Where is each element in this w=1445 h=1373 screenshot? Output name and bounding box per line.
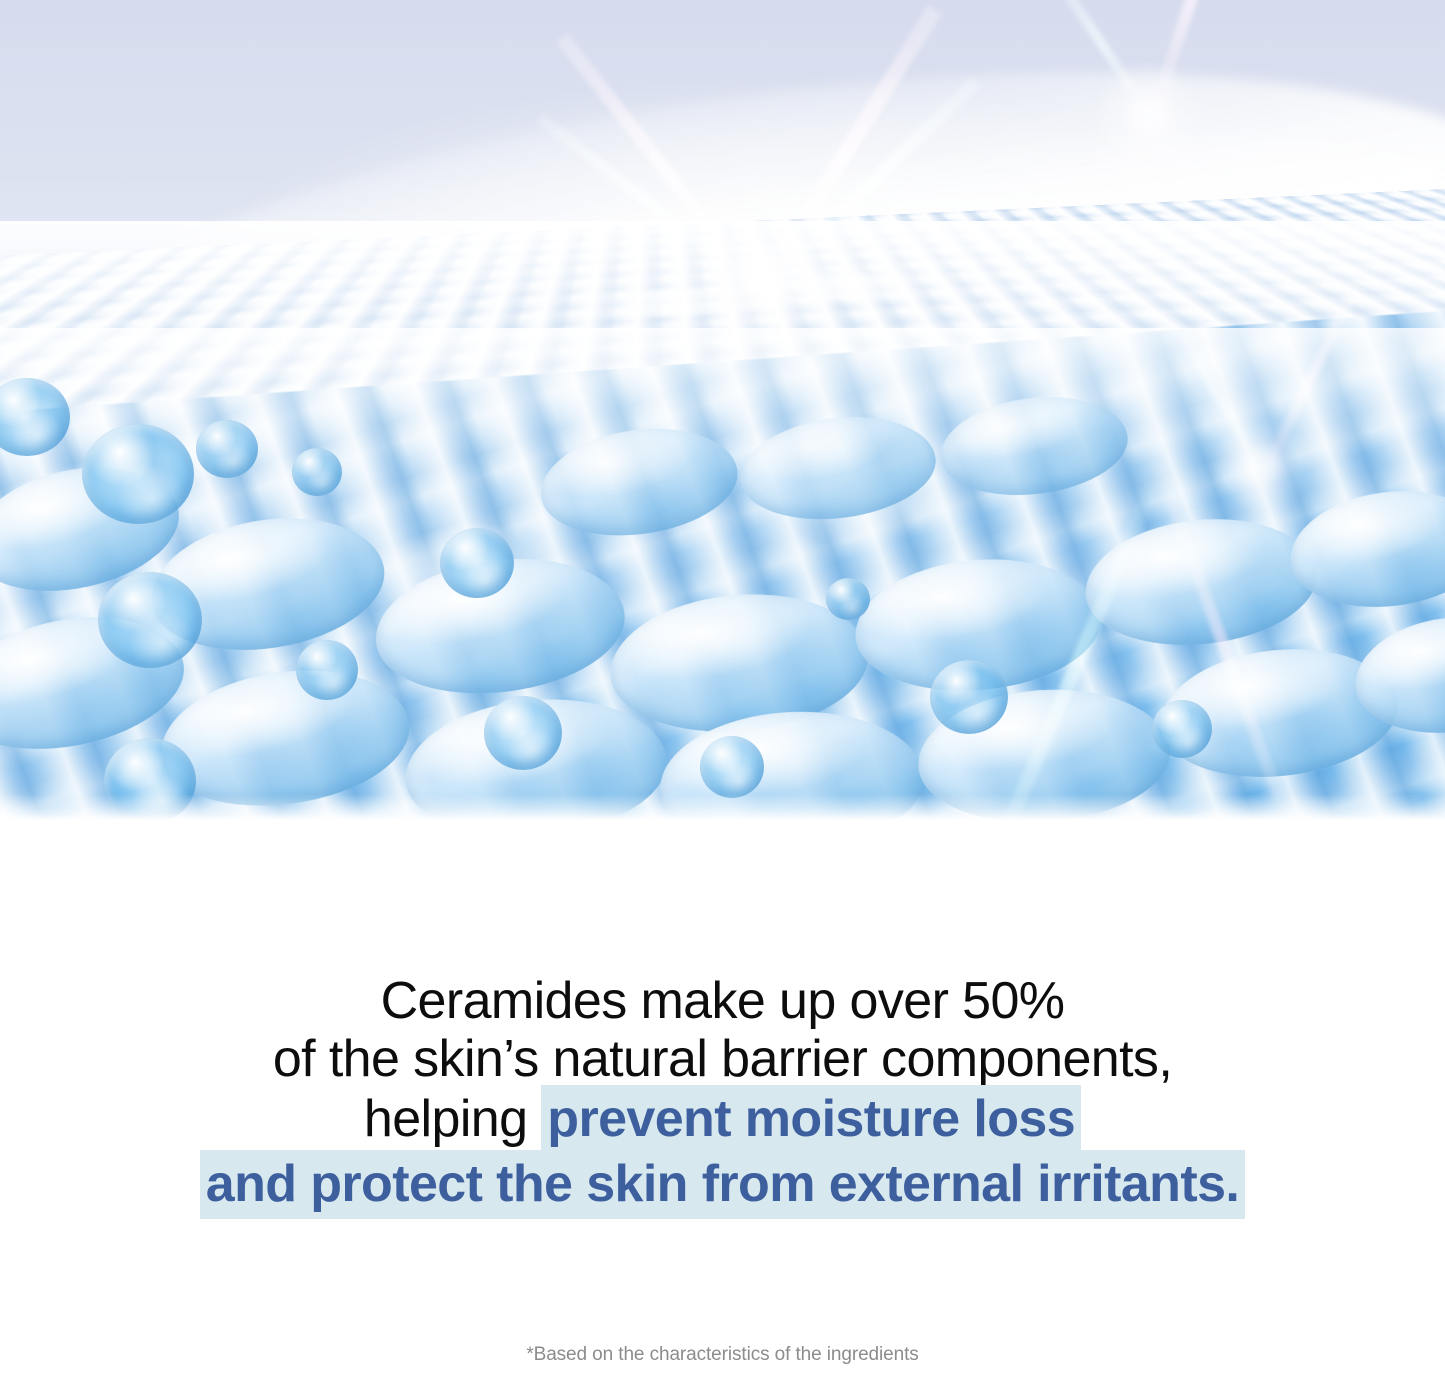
water-droplet — [82, 424, 194, 524]
caption-line-4: and protect the skin from external irrit… — [0, 1155, 1445, 1213]
water-droplet — [484, 696, 562, 770]
lens-flare-core-secondary — [1096, 64, 1202, 164]
lens-flare-core-tertiary — [1214, 422, 1310, 510]
caption-line-2: of the skin’s natural barrier components… — [0, 1030, 1445, 1088]
lens-flare-core-primary — [690, 214, 836, 346]
hero-image — [0, 0, 1445, 820]
caption-line-1: Ceramides make up over 50% — [0, 972, 1445, 1030]
water-droplet — [930, 660, 1008, 734]
caption-block: Ceramides make up over 50% of the skin’s… — [0, 972, 1445, 1213]
footnote-text: *Based on the characteristics of the ing… — [0, 1344, 1445, 1366]
caption-line-3-highlight: prevent moisture loss — [541, 1085, 1081, 1154]
caption-line-3-plain: helping — [364, 1090, 541, 1148]
caption-line-4-highlight: and protect the skin from external irrit… — [200, 1150, 1245, 1219]
water-droplet — [98, 572, 202, 668]
water-droplet — [196, 420, 258, 478]
water-droplet — [292, 448, 342, 496]
hero-bottom-fade — [0, 794, 1445, 820]
water-droplet — [440, 528, 514, 598]
caption-line-3: helping prevent moisture loss — [0, 1090, 1445, 1148]
water-droplet — [296, 640, 358, 700]
water-droplet — [700, 736, 764, 798]
water-droplet — [826, 578, 870, 620]
water-droplet — [1152, 700, 1212, 758]
